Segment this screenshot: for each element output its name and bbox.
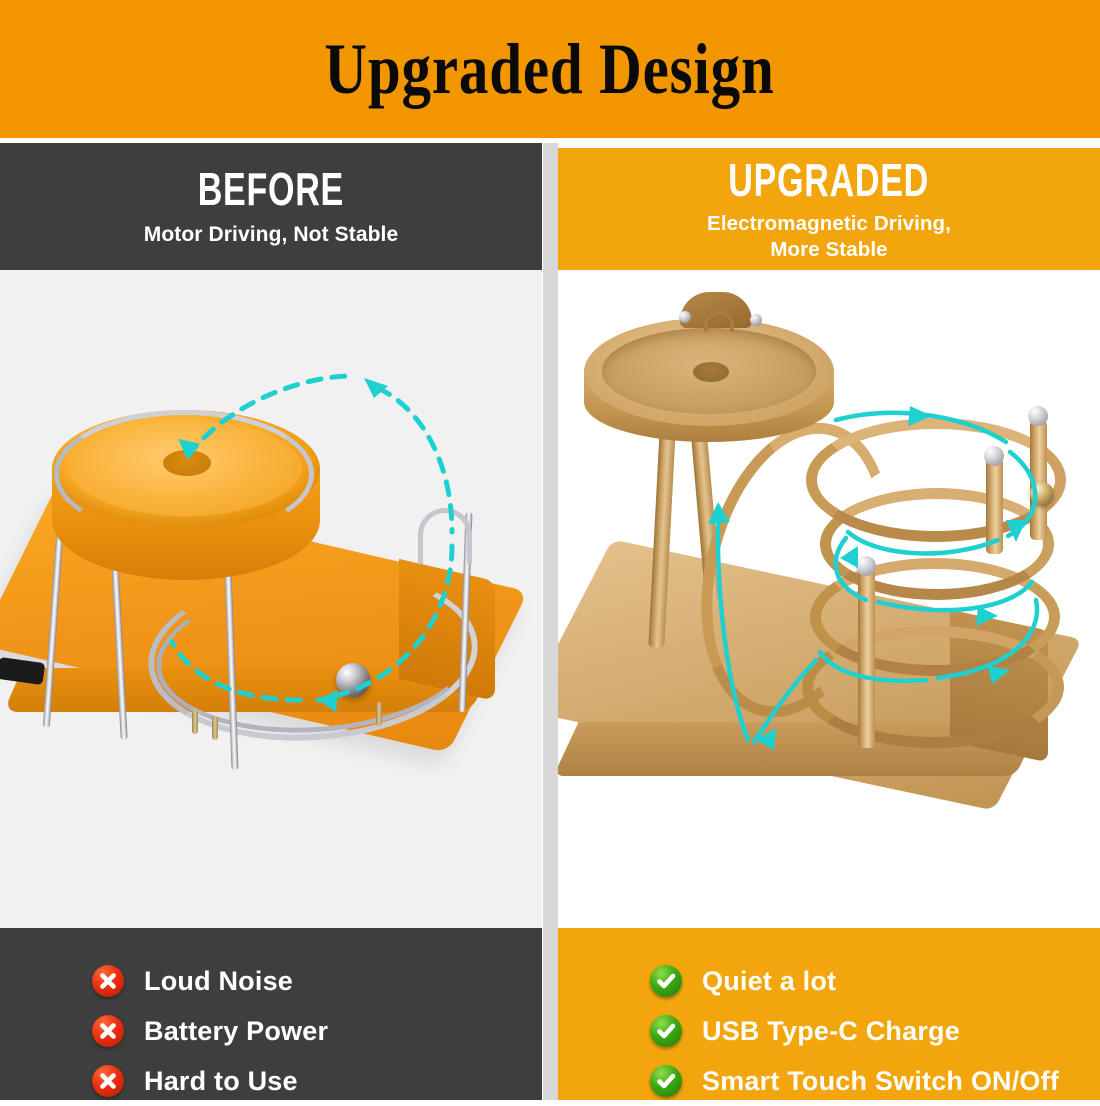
brass-post (192, 710, 198, 734)
post-cap-icon (984, 446, 1004, 466)
x-circle-icon (92, 965, 124, 997)
feature-label: USB Type-C Charge (702, 1018, 960, 1045)
list-item: USB Type-C Charge (650, 1006, 1100, 1056)
brass-post (376, 702, 382, 726)
infographic-page: Upgraded Design BEFORE Motor Driving, No… (0, 0, 1100, 1100)
before-product-image (0, 270, 542, 928)
wire-hook (418, 508, 472, 564)
feature-label: Quiet a lot (702, 968, 836, 995)
upgraded-column: UPGRADED Electromagnetic Driving, More S… (558, 143, 1100, 928)
column-divider (543, 143, 558, 1100)
upgraded-subtitle: Electromagnetic Driving, More Stable (707, 211, 951, 262)
helix-post (986, 458, 1003, 554)
helix-post (858, 568, 875, 748)
check-circle-icon (650, 1015, 682, 1047)
check-circle-icon (650, 1065, 682, 1097)
orange-plastic-marble-run (0, 270, 542, 928)
list-item: Loud Noise (92, 956, 542, 1006)
helix-post (1030, 420, 1047, 540)
feature-label: Loud Noise (144, 968, 293, 995)
helix-loop (806, 418, 1066, 542)
list-item: Battery Power (92, 1006, 542, 1056)
before-header: BEFORE Motor Driving, Not Stable (0, 143, 542, 270)
post-cap-icon (1028, 406, 1048, 426)
before-feature-list: Loud Noise Battery Power Hard to Use (0, 928, 542, 1100)
power-cord (0, 657, 45, 685)
upgraded-header: UPGRADED Electromagnetic Driving, More S… (558, 148, 1100, 270)
upgraded-subtitle-line1: Electromagnetic Driving, (707, 211, 951, 237)
upgraded-subtitle-line2: More Stable (707, 237, 951, 263)
list-item: Smart Touch Switch ON/Off (650, 1056, 1100, 1106)
page-header-band: Upgraded Design (0, 0, 1100, 138)
rolling-ball (1030, 482, 1054, 506)
x-circle-icon (92, 1065, 124, 1097)
before-subtitle: Motor Driving, Not Stable (144, 222, 399, 248)
bowl-drop-hole (693, 362, 729, 382)
upgraded-feature-list: Quiet a lot USB Type-C Charge Smart Touc… (558, 928, 1100, 1100)
upgraded-badge: UPGRADED (729, 157, 930, 203)
upgraded-product-image (558, 270, 1100, 928)
brass-post (212, 716, 218, 740)
x-circle-icon (92, 1015, 124, 1047)
wire-guard-ring (54, 410, 314, 538)
list-item: Hard to Use (92, 1056, 542, 1106)
steel-ball (336, 663, 370, 697)
feature-label: Smart Touch Switch ON/Off (702, 1068, 1059, 1095)
list-item: Quiet a lot (650, 956, 1100, 1006)
wooden-helix-marble-run (558, 270, 1100, 928)
magnet-arch (704, 310, 734, 332)
before-badge: BEFORE (198, 166, 344, 212)
check-circle-icon (650, 965, 682, 997)
before-column: BEFORE Motor Driving, Not Stable (0, 143, 542, 928)
post-cap-icon (856, 556, 876, 576)
page-title: Upgraded Design (325, 33, 775, 105)
feature-label: Battery Power (144, 1018, 328, 1045)
feature-label: Hard to Use (144, 1068, 298, 1095)
screw-icon (679, 311, 691, 323)
screw-icon (750, 314, 762, 326)
